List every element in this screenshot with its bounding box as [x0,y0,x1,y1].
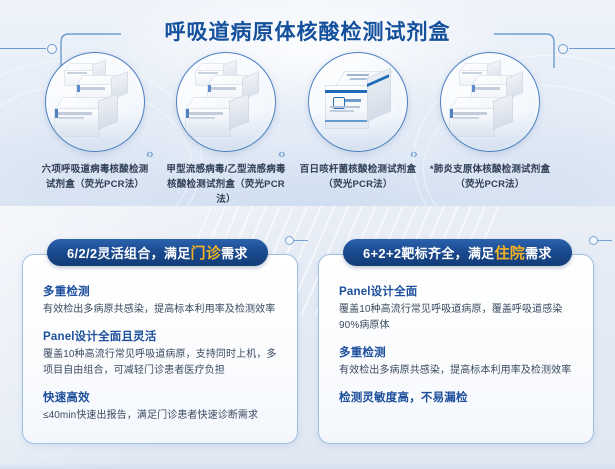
badge-corner-accent [341,257,351,269]
badge-text-post: 需求 [525,243,552,262]
benefit-heading: 快速高效 [43,389,281,405]
badge-node-icon [285,236,294,245]
badge-text-highlight: 住院 [494,242,525,263]
benefits-section: 6/2/2灵活组合，满足门诊需求 多重检测 有效检出多病原共感染，提高标本利用率… [0,206,615,469]
benefit-text: ≤40min快速出报告，满足门诊患者快速诊断需求 [43,408,281,424]
benefit-heading: 检测灵敏度高，不易漏检 [339,389,577,405]
benefit-text: 覆盖10种高流行常见呼吸道病原，支持同时上机，多项目自由组合，可减轻门诊患者医疗… [43,347,281,379]
benefit-text: 有效检出多病原共感染，提高标本利用率及检测效率 [339,363,577,379]
chevron-separator-icon-3: ‹› [410,146,417,161]
badge-text-pre: 6+2+2靶标齐全，满足 [363,243,494,262]
benefit-heading: 多重检测 [339,344,577,360]
product-caption-1: 六项呼吸道病毒核酸检测 试剂盒（荧光PCR法） [33,162,157,192]
chevron-separator-icon-2: ‹› [278,146,285,161]
product-circle-2 [176,52,276,152]
badge-node-line [597,240,612,241]
badge-node-icon [589,236,598,245]
product-caption-3: 百日咳杆菌核酸检测试剂盒 （荧光PCR法） [296,162,420,192]
product-caption-4: *肺炎支原体核酸检测试剂盒 （荧光PCR法） [428,162,552,192]
badge-node-line [293,240,308,241]
benefit-heading: Panel设计全面且灵活 [43,328,281,344]
badge-corner-accent [45,257,55,269]
product-caption-2: 甲型流感病毒/乙型流感病毒 核酸检测试剂盒（荧光PCR法） [164,162,288,206]
title-rule-left [0,48,46,49]
product-banner-section: 呼吸道病原体核酸检测试剂盒 [0,0,615,206]
product-card-2[interactable]: 甲型流感病毒/乙型流感病毒 核酸检测试剂盒（荧光PCR法） [164,52,288,206]
badge-text-pre: 6/2/2灵活组合，满足 [67,243,191,262]
chevron-separator-icon-1: ‹› [146,146,153,161]
page-title: 呼吸道病原体核酸检测试剂盒 [165,16,451,46]
product-card-3[interactable]: 百日咳杆菌核酸检测试剂盒 （荧光PCR法） [296,52,420,192]
product-row: 六项呼吸道病毒核酸检测 试剂盒（荧光PCR法） [0,52,615,204]
badge-text-post: 需求 [221,243,248,262]
inpatient-panel: 6+2+2靶标齐全，满足住院需求 Panel设计全面 覆盖10种高流行常见呼吸道… [318,254,594,444]
inpatient-panel-badge: 6+2+2靶标齐全，满足住院需求 [343,239,572,266]
title-area: 呼吸道病原体核酸检测试剂盒 [0,16,615,50]
product-circle-3 [308,52,408,152]
circle-shade-2 [177,112,275,151]
benefit-heading: 多重检测 [43,283,281,299]
circle-shade-3 [309,112,407,151]
badge-text-highlight: 门诊 [191,242,222,263]
product-circle-4 [440,52,540,152]
outpatient-panel: 6/2/2灵活组合，满足门诊需求 多重检测 有效检出多病原共感染，提高标本利用率… [22,254,298,444]
circle-shade-1 [46,112,144,151]
product-card-1[interactable]: 六项呼吸道病毒核酸检测 试剂盒（荧光PCR法） [33,52,157,192]
product-card-4[interactable]: *肺炎支原体核酸检测试剂盒 （荧光PCR法） [428,52,552,192]
outpatient-panel-body: 多重检测 有效检出多病原共感染，提高标本利用率及检测效率 Panel设计全面且灵… [43,283,281,424]
benefit-heading: Panel设计全面 [339,283,577,299]
bottom-edge-fade [0,462,615,469]
inpatient-panel-body: Panel设计全面 覆盖10种高流行常见呼吸道病原，覆盖呼吸道感染90%病原体 … [339,283,577,408]
title-rule-right [569,48,615,49]
circle-shade-4 [441,112,539,151]
benefit-text: 有效检出多病原共感染，提高标本利用率及检测效率 [43,302,281,318]
poster-page: 呼吸道病原体核酸检测试剂盒 [0,0,615,469]
product-circle-1 [45,52,145,152]
benefit-text: 覆盖10种高流行常见呼吸道病原，覆盖呼吸道感染90%病原体 [339,302,577,334]
outpatient-panel-badge: 6/2/2灵活组合，满足门诊需求 [47,239,268,266]
